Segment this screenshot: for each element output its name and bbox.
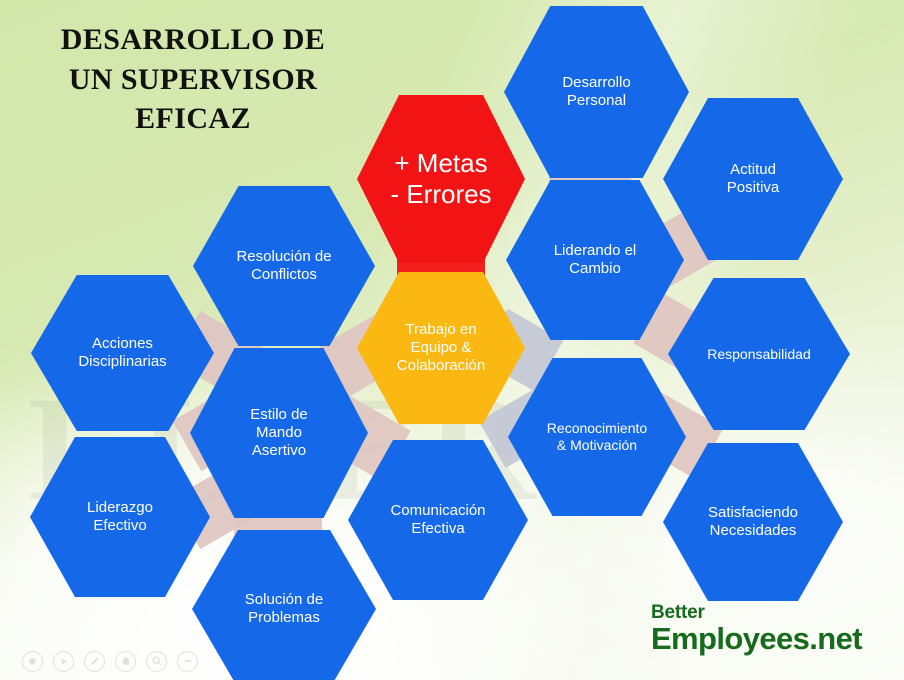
hexagon-label: Responsabilidad	[699, 346, 819, 363]
hexagon-metas-errores[interactable]: + Metas- Errores	[357, 95, 525, 263]
hexagon-trabajo-equipo[interactable]: Trabajo enEquipo &Colaboración	[357, 272, 525, 424]
hexagon-label: Liderando elCambio	[546, 242, 645, 278]
magnifier-icon	[151, 655, 163, 667]
viewer-toolbar[interactable]	[22, 648, 198, 674]
hexagon-label: LiderazgoEfectivo	[79, 499, 161, 535]
home-icon	[120, 655, 132, 667]
hexagon-label: ComunicaciónEfectiva	[382, 502, 493, 538]
logo-line-employees: Employees.net	[651, 623, 862, 654]
hexagon-liderazgo-efectivo[interactable]: LiderazgoEfectivo	[30, 437, 210, 597]
hexagon-label: DesarrolloPersonal	[554, 74, 638, 110]
minus-icon	[182, 655, 194, 667]
pen-button[interactable]	[84, 651, 105, 672]
home-button[interactable]	[115, 651, 136, 672]
hexagon-acciones-disciplinarias[interactable]: AccionesDisciplinarias	[31, 275, 214, 431]
hexagon-label: Resolución deConflictos	[228, 248, 339, 284]
presentation-slide: LIDER DESARROLLO DE UN SUPERVISOR EFICAZ…	[0, 0, 904, 680]
zoom-out-button[interactable]	[177, 651, 198, 672]
play-icon	[58, 656, 69, 667]
hexagon-label: Reconocimiento& Motivación	[539, 420, 655, 454]
logo-line-better: Better	[651, 603, 862, 622]
hexagon-label: + Metas- Errores	[382, 148, 499, 210]
record-icon	[27, 656, 38, 667]
zoom-in-button[interactable]	[146, 651, 167, 672]
pen-icon	[89, 655, 101, 667]
play-button[interactable]	[53, 651, 74, 672]
hexagon-diagram: + Metas- ErroresTrabajo enEquipo &Colabo…	[0, 0, 904, 680]
hexagon-label: ActitudPositiva	[719, 161, 788, 197]
hexagon-solucion-problemas[interactable]: Solución deProblemas	[192, 530, 376, 680]
record-button[interactable]	[22, 651, 43, 672]
hexagon-label: SatisfaciendoNecesidades	[700, 504, 806, 540]
hexagon-label: AccionesDisciplinarias	[70, 335, 174, 371]
hexagon-label: Solución deProblemas	[237, 591, 331, 627]
hexagon-desarrollo-personal[interactable]: DesarrolloPersonal	[504, 6, 689, 178]
brand-logo: Better Employees.net	[651, 603, 862, 654]
hexagon-label: Trabajo enEquipo &Colaboración	[389, 321, 493, 375]
hexagon-label: Estilo deMandoAsertivo	[242, 406, 316, 460]
hexagon-responsabilidad[interactable]: Responsabilidad	[668, 278, 850, 430]
